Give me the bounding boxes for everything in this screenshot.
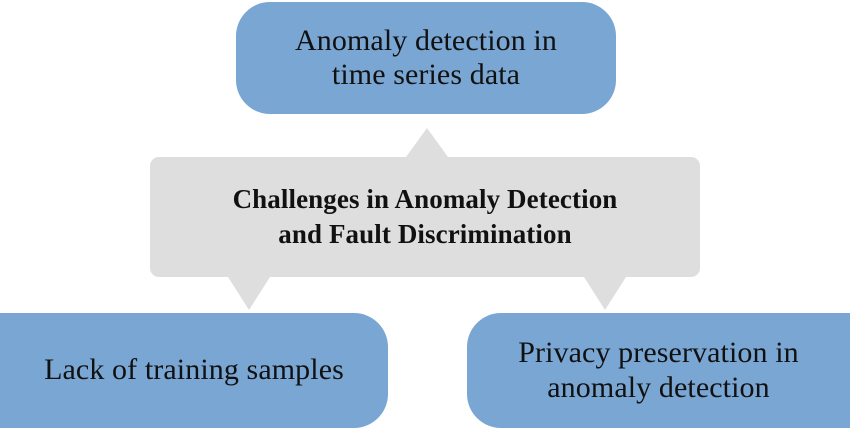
- connector-arrow-down-right: [584, 277, 626, 310]
- node-label: Anomaly detection in time series data: [252, 24, 600, 93]
- node-label: Privacy preservation in anomaly detectio…: [473, 336, 844, 405]
- connector-arrow-down-left: [228, 277, 270, 310]
- node-label: Lack of training samples: [6, 353, 382, 388]
- node-label: Challenges in Anomaly Detection and Faul…: [164, 182, 686, 251]
- connector-arrow-up-top: [406, 128, 448, 157]
- node-central-challenges[interactable]: Challenges in Anomaly Detection and Faul…: [150, 157, 700, 277]
- diagram-canvas: Anomaly detection in time series data Ch…: [0, 0, 850, 433]
- node-lack-of-training-samples[interactable]: Lack of training samples: [0, 313, 388, 428]
- node-privacy-preservation[interactable]: Privacy preservation in anomaly detectio…: [467, 313, 850, 428]
- node-anomaly-detection-time-series[interactable]: Anomaly detection in time series data: [236, 2, 616, 114]
